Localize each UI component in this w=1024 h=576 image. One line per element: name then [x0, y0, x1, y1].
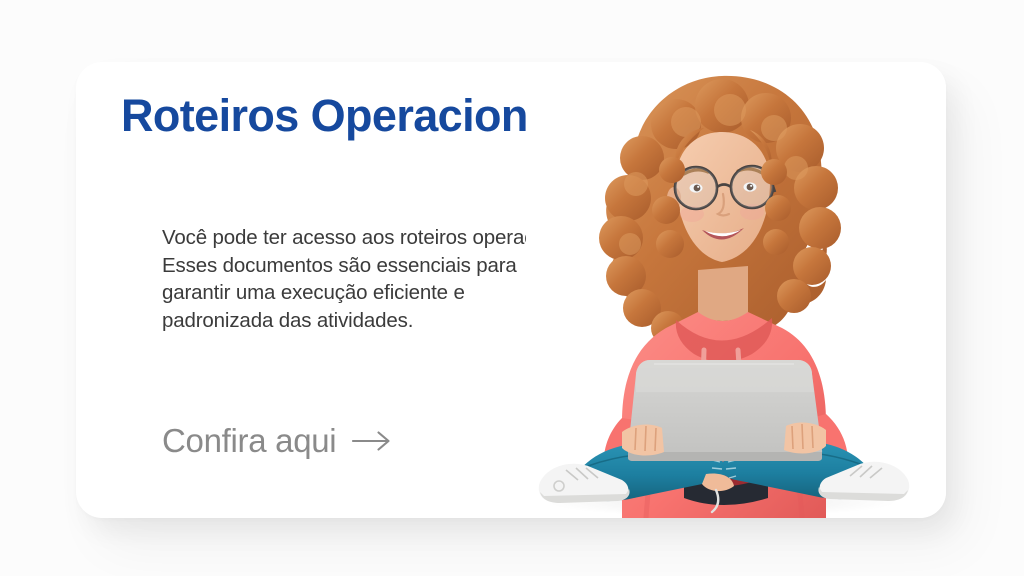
promo-card[interactable]: Roteiros Operacionais Você pode ter aces…: [76, 62, 946, 518]
page-title: Roteiros Operacionais: [121, 90, 589, 142]
photo-woman-with-laptop: [526, 62, 946, 518]
banner-stage: Roteiros Operacionais Você pode ter aces…: [0, 0, 1024, 576]
confira-aqui-link[interactable]: Confira aqui: [162, 422, 392, 460]
cta-label: Confira aqui: [162, 422, 336, 460]
arrow-right-icon: [352, 430, 392, 452]
